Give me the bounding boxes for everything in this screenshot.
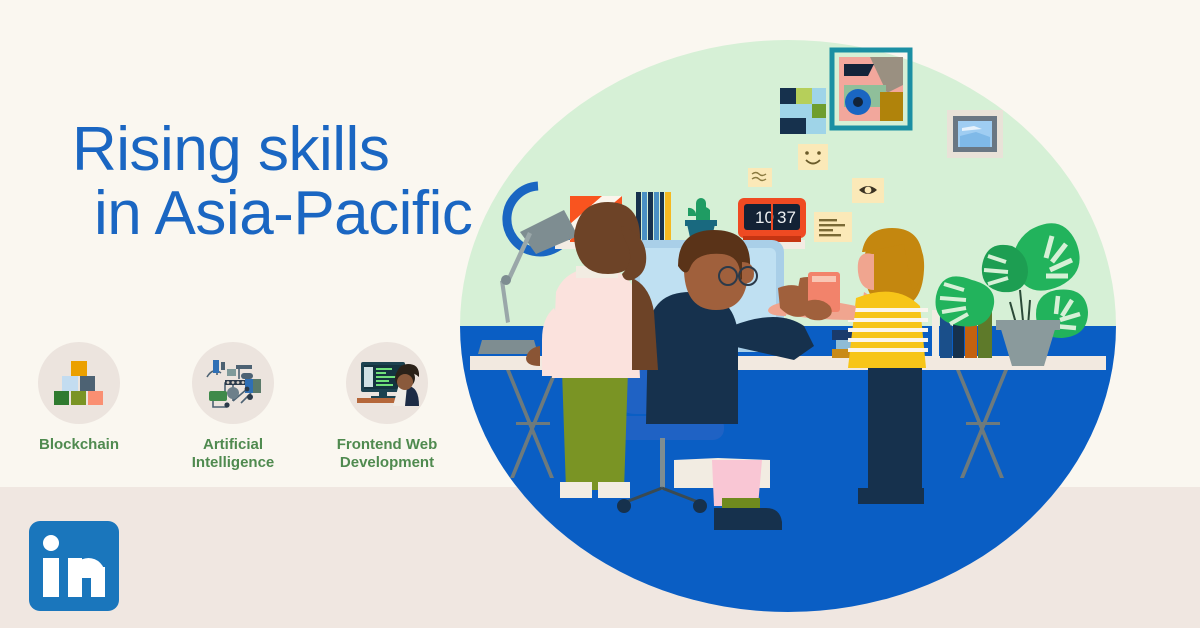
poster-canvas: 10 37	[0, 0, 1200, 628]
sticky-note-text	[814, 212, 852, 242]
sticky-note-scribble-1	[748, 168, 772, 187]
page-title: Rising skills in Asia-Pacific	[72, 118, 592, 246]
skill-item-artificial-intelligence[interactable]: Artificial Intelligence	[174, 342, 292, 472]
shelf-books	[636, 192, 671, 242]
linkedin-logo[interactable]	[29, 521, 119, 611]
circuit-network-icon	[192, 342, 274, 424]
linkedin-n-glyph	[68, 558, 105, 597]
flip-clock: 10 37	[738, 198, 806, 242]
headline-line-1: Rising skills	[72, 115, 389, 184]
skill-item-frontend-web-development[interactable]: Frontend Web Development	[328, 342, 446, 472]
developer-at-monitor-icon	[346, 342, 428, 424]
skills-list: Blockchain	[20, 342, 446, 472]
headline-line-2: in Asia-Pacific	[72, 182, 592, 246]
linkedin-i-stem	[43, 558, 59, 597]
skill-label-blockchain: Blockchain	[39, 436, 119, 454]
pixel-art-decor	[780, 88, 826, 134]
framed-landscape-art	[947, 110, 1003, 158]
skill-item-blockchain[interactable]: Blockchain	[20, 342, 138, 454]
clock-minutes: 37	[777, 208, 796, 227]
linkedin-i-dot	[43, 535, 59, 551]
framed-abstract-art	[832, 50, 910, 128]
sticky-note-smiley	[798, 144, 828, 170]
blockchain-blocks-icon	[38, 342, 120, 424]
skill-label-artificial-intelligence: Artificial Intelligence	[174, 436, 292, 472]
sticky-note-eye	[852, 178, 884, 203]
skill-label-frontend-web-development: Frontend Web Development	[328, 436, 446, 472]
